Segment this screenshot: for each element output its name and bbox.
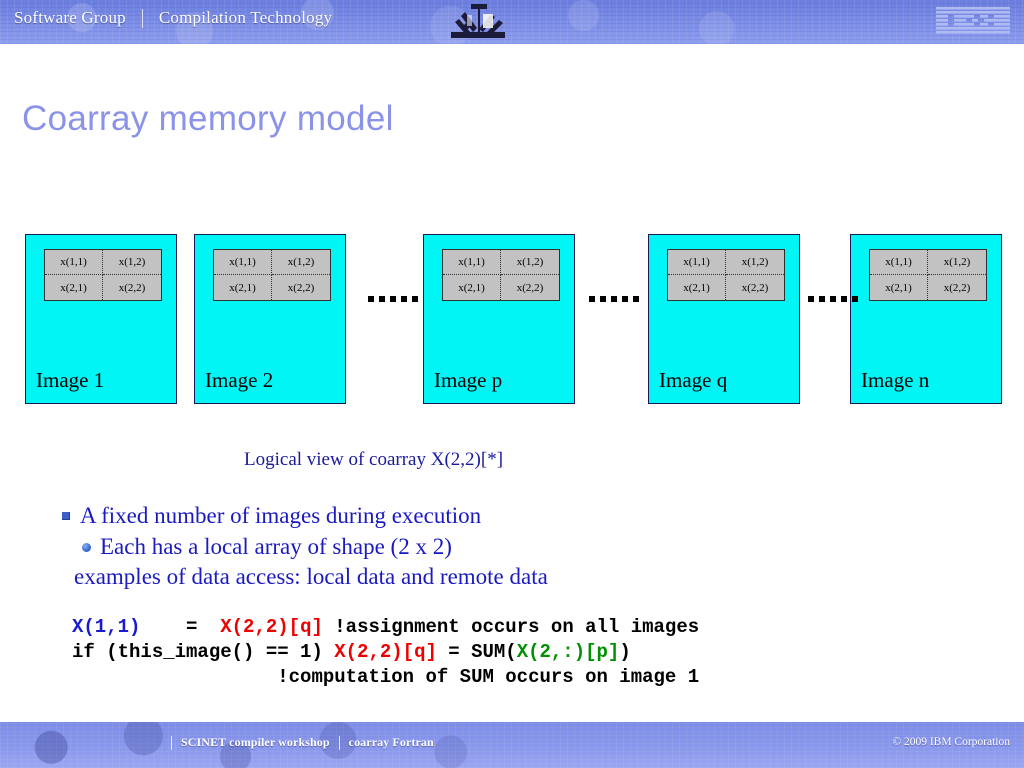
coarray-cell: x(2,1) bbox=[45, 275, 103, 300]
coarray-grid: x(1,1)x(1,2)x(2,1)x(2,2) bbox=[869, 249, 987, 301]
image-box: x(1,1)x(1,2)x(2,1)x(2,2)Image q bbox=[648, 234, 800, 404]
bullet-text: A fixed number of images during executio… bbox=[80, 503, 481, 529]
coarray-cell: x(1,1) bbox=[45, 250, 103, 275]
ellipsis-separator bbox=[589, 296, 639, 302]
header-software-group-label: Software Group bbox=[14, 8, 126, 28]
code-line: !computation of SUM occurs on image 1 bbox=[72, 665, 699, 690]
ellipsis-dot bbox=[589, 296, 595, 302]
coarray-cell: x(1,2) bbox=[501, 250, 559, 275]
header-brand: Software Group Compilation Technology bbox=[14, 8, 332, 28]
coarray-cell: x(1,2) bbox=[726, 250, 784, 275]
coarray-cell: x(2,2) bbox=[726, 275, 784, 300]
page-title: Coarray memory model bbox=[22, 99, 394, 139]
code-token: X(2,:)[p] bbox=[517, 641, 620, 663]
code-token: = bbox=[140, 616, 220, 638]
coarray-grid: x(1,1)x(1,2)x(2,1)x(2,2) bbox=[442, 249, 560, 301]
image-box-label: Image n bbox=[861, 368, 929, 393]
footer-workshop-label: SCINET compiler workshop bbox=[181, 735, 330, 750]
ellipsis-dot bbox=[368, 296, 374, 302]
code-token: = SUM( bbox=[437, 641, 517, 663]
footer-texture bbox=[0, 722, 1024, 768]
image-box: x(1,1)x(1,2)x(2,1)x(2,2)Image 2 bbox=[194, 234, 346, 404]
image-box-label: Image 2 bbox=[205, 368, 273, 393]
footer-divider-start bbox=[171, 736, 172, 750]
square-bullet-icon bbox=[62, 512, 70, 520]
code-token: X(1,1) bbox=[72, 616, 140, 638]
code-token: if (this_image() == 1) bbox=[72, 641, 334, 663]
coarray-cell: x(1,1) bbox=[443, 250, 501, 275]
bullet-item: Each has a local array of shape (2 x 2) bbox=[0, 534, 1024, 560]
ibm-logo bbox=[936, 7, 1010, 35]
ellipsis-dot bbox=[611, 296, 617, 302]
bullet-item: A fixed number of images during executio… bbox=[0, 503, 1024, 529]
ellipsis-dot bbox=[830, 296, 836, 302]
coarray-cell: x(2,2) bbox=[272, 275, 330, 300]
diagram-caption: Logical view of coarray X(2,2)[*] bbox=[244, 449, 503, 471]
coarray-cell: x(1,2) bbox=[928, 250, 986, 275]
code-line: if (this_image() == 1) X(2,2)[q] = SUM(X… bbox=[72, 640, 699, 665]
footer-left-text: SCINET compiler workshop coarray Fortran bbox=[162, 735, 434, 750]
image-box: x(1,1)x(1,2)x(2,1)x(2,2)Image 1 bbox=[25, 234, 177, 404]
code-token: ) bbox=[619, 641, 630, 663]
coarray-cell: x(1,1) bbox=[870, 250, 928, 275]
code-token: !assignment occurs on all images bbox=[323, 616, 699, 638]
ellipsis-dot bbox=[390, 296, 396, 302]
coarray-diagram: x(1,1)x(1,2)x(2,1)x(2,2)Image 1x(1,1)x(1… bbox=[0, 234, 1024, 406]
circle-bullet-icon bbox=[82, 543, 91, 552]
image-box-label: Image 1 bbox=[36, 368, 104, 393]
coarray-cell: x(2,1) bbox=[443, 275, 501, 300]
coarray-cell: x(2,1) bbox=[668, 275, 726, 300]
footer-divider-mid bbox=[339, 736, 340, 750]
ellipsis-dot bbox=[401, 296, 407, 302]
tools-emblem-icon bbox=[447, 2, 509, 42]
coarray-cell: x(2,2) bbox=[928, 275, 986, 300]
footer-topic-label: coarray Fortran bbox=[349, 735, 434, 750]
coarray-cell: x(2,1) bbox=[870, 275, 928, 300]
coarray-cell: x(1,2) bbox=[103, 250, 161, 275]
slide-footer: SCINET compiler workshop coarray Fortran… bbox=[0, 722, 1024, 768]
code-block: X(1,1) = X(2,2)[q] !assignment occurs on… bbox=[72, 615, 699, 690]
image-box-label: Image p bbox=[434, 368, 502, 393]
coarray-cell: x(2,2) bbox=[103, 275, 161, 300]
ellipsis-dot bbox=[412, 296, 418, 302]
coarray-grid: x(1,1)x(1,2)x(2,1)x(2,2) bbox=[213, 249, 331, 301]
ellipsis-dot bbox=[819, 296, 825, 302]
code-token: X(2,2)[q] bbox=[220, 616, 323, 638]
image-box-label: Image q bbox=[659, 368, 727, 393]
ellipsis-dot bbox=[841, 296, 847, 302]
coarray-grid: x(1,1)x(1,2)x(2,1)x(2,2) bbox=[44, 249, 162, 301]
bullet-text: Each has a local array of shape (2 x 2) bbox=[100, 534, 452, 560]
coarray-cell: x(1,2) bbox=[272, 250, 330, 275]
image-box: x(1,1)x(1,2)x(2,1)x(2,2)Image n bbox=[850, 234, 1002, 404]
coarray-cell: x(1,1) bbox=[668, 250, 726, 275]
ellipsis-dot bbox=[808, 296, 814, 302]
code-token: X(2,2)[q] bbox=[334, 641, 437, 663]
slide-header: Software Group Compilation Technology bbox=[0, 0, 1024, 44]
ellipsis-dot bbox=[852, 296, 858, 302]
coarray-cell: x(2,2) bbox=[501, 275, 559, 300]
ellipsis-separator bbox=[368, 296, 418, 302]
coarray-cell: x(1,1) bbox=[214, 250, 272, 275]
image-box: x(1,1)x(1,2)x(2,1)x(2,2)Image p bbox=[423, 234, 575, 404]
ellipsis-separator bbox=[808, 296, 858, 302]
footer-copyright: © 2009 IBM Corporation bbox=[892, 736, 1010, 748]
code-token: !computation of SUM occurs on image 1 bbox=[72, 666, 699, 688]
ellipsis-dot bbox=[633, 296, 639, 302]
bullet-item: examples of data access: local data and … bbox=[0, 564, 1024, 590]
header-divider bbox=[142, 9, 143, 28]
ellipsis-dot bbox=[600, 296, 606, 302]
bullet-text: examples of data access: local data and … bbox=[74, 564, 548, 590]
code-line: X(1,1) = X(2,2)[q] !assignment occurs on… bbox=[72, 615, 699, 640]
coarray-grid: x(1,1)x(1,2)x(2,1)x(2,2) bbox=[667, 249, 785, 301]
ellipsis-dot bbox=[379, 296, 385, 302]
ellipsis-dot bbox=[622, 296, 628, 302]
coarray-cell: x(2,1) bbox=[214, 275, 272, 300]
header-compilation-technology-label: Compilation Technology bbox=[159, 8, 332, 28]
bullet-list: A fixed number of images during executio… bbox=[0, 503, 1024, 590]
